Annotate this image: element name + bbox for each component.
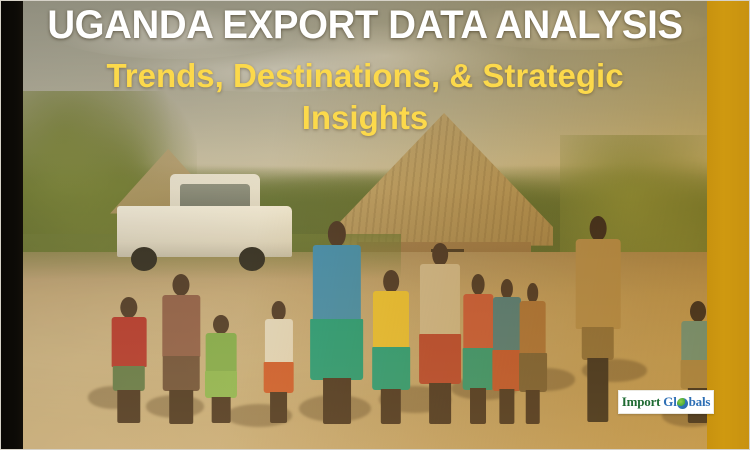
person-torso	[265, 319, 293, 363]
left-black-band	[1, 1, 23, 449]
person	[371, 270, 410, 422]
person-head	[213, 315, 229, 334]
truck-wheel	[131, 247, 157, 271]
globe-icon	[677, 398, 688, 409]
person-garment	[310, 319, 364, 379]
logo-word-globals: Gl bals	[663, 394, 710, 410]
person-head	[328, 221, 346, 247]
person-legs	[323, 378, 351, 424]
person-garment	[582, 327, 615, 360]
person-garment	[420, 334, 462, 384]
person-garment	[113, 366, 145, 391]
person-head	[527, 283, 539, 302]
page-subtitle: Trends, Destinations, & Strategic Insigh…	[27, 55, 703, 139]
person-garment	[205, 371, 237, 399]
white-pickup-truck	[117, 180, 291, 279]
logo-word-import: Import	[622, 394, 661, 410]
person	[419, 243, 463, 422]
person-head	[271, 301, 286, 320]
person-torso	[464, 294, 493, 350]
person	[518, 283, 547, 422]
person	[263, 301, 295, 422]
person-walking	[575, 216, 621, 422]
person-garment	[263, 362, 294, 393]
person-head	[472, 274, 485, 295]
person-legs	[270, 392, 288, 423]
person-legs	[470, 388, 486, 423]
person-garment	[519, 353, 547, 392]
person-head	[383, 270, 399, 293]
person-legs	[212, 397, 231, 423]
person	[205, 315, 238, 423]
page-title: UGANDA EXPORT DATA ANALYSIS	[41, 5, 690, 46]
person-torso	[312, 245, 360, 322]
person-garment	[163, 356, 200, 391]
person-garment	[463, 348, 494, 389]
person-torso	[420, 264, 460, 336]
right-gold-band	[707, 1, 749, 449]
logo-globals-prefix: Gl	[663, 394, 676, 410]
presentation-slide: UGANDA EXPORT DATA ANALYSIS Trends, Dest…	[0, 0, 750, 450]
person-torso	[576, 239, 621, 330]
person-head	[500, 279, 512, 299]
person-dancer	[310, 221, 364, 423]
person-head	[590, 216, 607, 241]
import-globals-logo[interactable]: Import Gl bals	[618, 390, 714, 414]
person-head	[690, 301, 706, 322]
person-torso	[206, 333, 237, 372]
person	[161, 274, 202, 422]
person-torso	[112, 317, 147, 367]
person-head	[173, 274, 190, 296]
person-head	[433, 243, 449, 266]
person-legs	[430, 383, 452, 424]
truck-wheel	[239, 247, 265, 271]
person-legs	[117, 390, 140, 424]
person-garment	[372, 347, 410, 390]
person-torso	[492, 297, 520, 351]
title-block: UGANDA EXPORT DATA ANALYSIS Trends, Dest…	[23, 5, 707, 139]
person-torso	[373, 291, 409, 349]
logo-globals-suffix: bals	[689, 394, 711, 410]
person-torso	[519, 301, 546, 354]
person-legs	[169, 390, 193, 424]
person-legs	[525, 390, 540, 423]
person-legs	[587, 358, 608, 422]
person-torso	[163, 295, 200, 357]
person-head	[120, 297, 137, 318]
person	[462, 274, 494, 422]
person-garment	[492, 350, 521, 390]
person-legs	[381, 389, 401, 424]
person-legs	[499, 389, 514, 423]
person	[110, 297, 148, 422]
